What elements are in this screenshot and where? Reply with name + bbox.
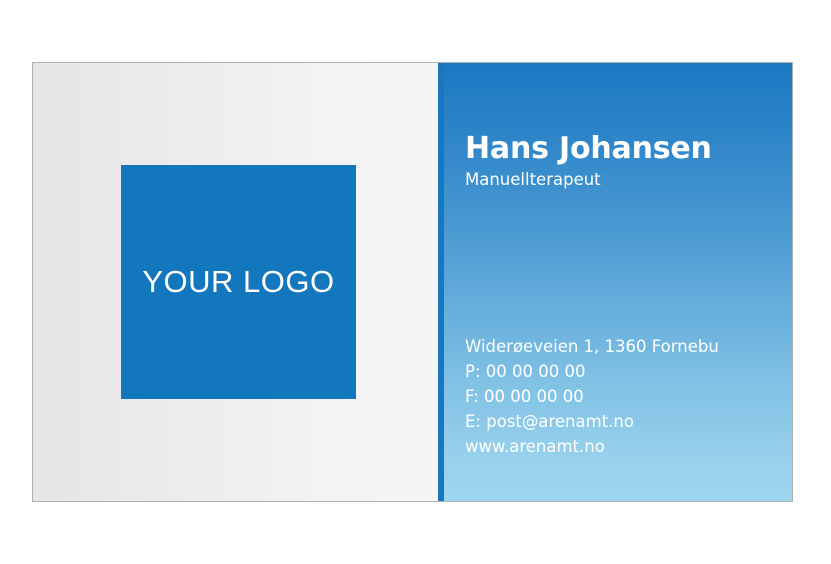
contact-address: Widerøeveien 1, 1360 Fornebu [465,334,719,359]
contact-email: E: post@arenamt.no [465,409,719,434]
person-name: Hans Johansen [465,133,712,165]
logo-placeholder-label: YOUR LOGO [142,264,334,300]
logo-placeholder-box: YOUR LOGO [121,165,356,399]
logo-panel: YOUR LOGO [33,63,438,501]
person-job-title: Manuellterapeut [465,170,712,189]
info-panel: Hans Johansen Manuellterapeut Widerøevei… [444,63,792,501]
contact-phone: P: 00 00 00 00 [465,359,719,384]
identity-block: Hans Johansen Manuellterapeut [465,133,712,189]
contact-fax: F: 00 00 00 00 [465,384,719,409]
business-card: YOUR LOGO Hans Johansen Manuellterapeut … [32,62,793,502]
contact-block: Widerøeveien 1, 1360 Fornebu P: 00 00 00… [465,334,719,459]
contact-website: www.arenamt.no [465,434,719,459]
